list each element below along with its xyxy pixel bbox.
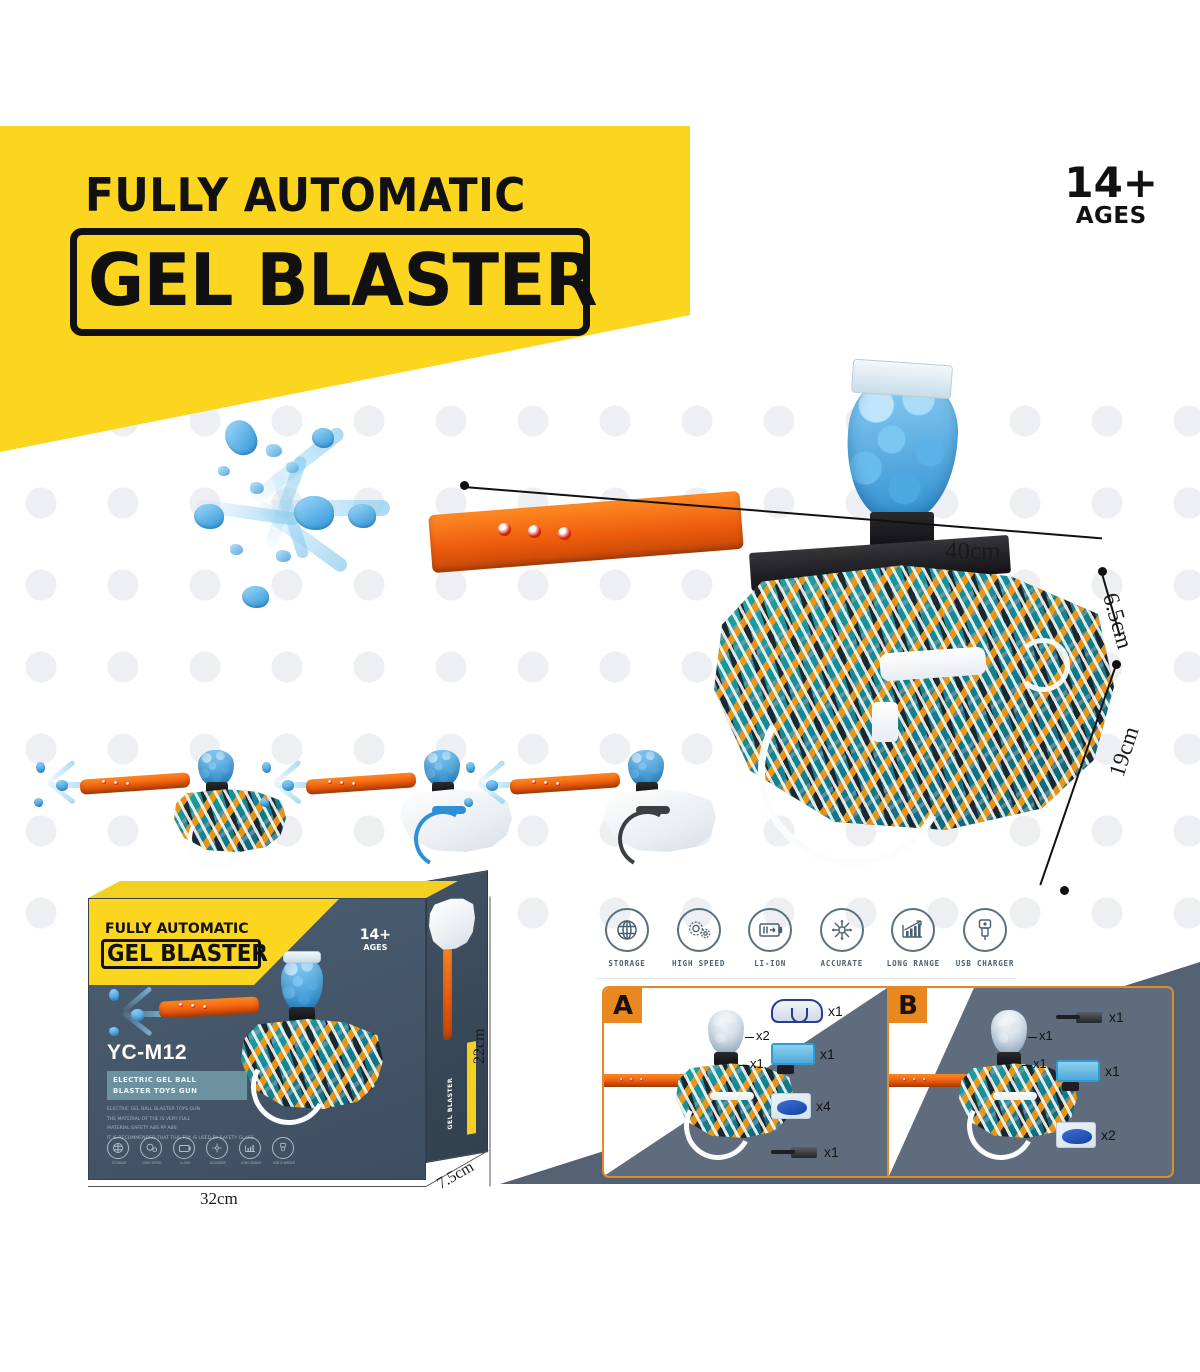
feature-icon-row: STORAGE HIGH SPEED LI-ION [596, 908, 1016, 968]
barrel-vent [126, 782, 130, 786]
battery-icon [173, 1137, 195, 1159]
splash-drop [260, 798, 269, 807]
hopper-cap [851, 359, 953, 400]
item-qty: x1 [1105, 1063, 1120, 1079]
splash-shard [286, 462, 299, 473]
splash-drop [294, 496, 334, 530]
bar-chart-arrow-icon [239, 1137, 261, 1159]
package-age-label: AGES [360, 943, 391, 952]
gel-bead-bag-icon [771, 1093, 811, 1119]
item-qty: x1 [1109, 1009, 1124, 1025]
battery-pack-icon [771, 1043, 815, 1065]
barrel-vent [352, 782, 356, 786]
variant-blaster-3 [460, 748, 700, 858]
battery-pack-icon [1056, 1060, 1100, 1082]
barrel-vent [179, 1003, 183, 1007]
item-qty: x2 [1101, 1127, 1116, 1143]
feature-divider [596, 978, 1016, 979]
splash-drop [464, 798, 473, 807]
feature-high-speed: HIGH SPEED [668, 908, 730, 968]
panel-a-callout-hopper: x2 [756, 1028, 770, 1043]
package-hopper-neck [289, 1007, 315, 1021]
barrel-vent [498, 523, 511, 536]
barrel-vent [102, 780, 106, 784]
gel-ball-hopper [708, 1010, 744, 1054]
splash-drop [56, 780, 68, 791]
feature-storage: STORAGE [596, 908, 658, 968]
package-top-panel [88, 881, 458, 898]
pkg-dim-line-width [88, 1186, 426, 1187]
panel-b-callout-hopper: x1 [1039, 1028, 1053, 1043]
splash-drop [282, 780, 294, 791]
feature-label: HIGH SPEED [668, 959, 730, 968]
barrel-vent [556, 782, 560, 786]
dim-label-length: 40cm [945, 538, 1001, 566]
usb-plug-icon [272, 1137, 294, 1159]
feature-accurate: ACCURATE [811, 908, 873, 968]
item-qty: x1 [828, 1003, 843, 1019]
safety-goggles-icon [771, 999, 823, 1023]
gel-ball-hopper [424, 750, 460, 786]
splash-drop [312, 428, 334, 448]
barrel-vent [544, 781, 548, 785]
splash-drop [36, 762, 45, 773]
package-side-panel: GEL BLASTER [426, 870, 488, 1163]
splash-drop [348, 504, 376, 528]
gears-icon [677, 908, 721, 952]
package-icon-label: ACCURATE [206, 1161, 230, 1165]
crosshair-burst-icon [820, 908, 864, 952]
panel-a-callout-magazine: x1 [750, 1056, 764, 1071]
package-subtitle: ELECTRIC GEL BALL BLASTER TOYS GUN [107, 1071, 247, 1100]
feature-label: LONG RANGE [882, 959, 944, 968]
package-kicker: FULLY AUTOMATIC [105, 921, 249, 937]
item-qty: x1 [820, 1046, 835, 1062]
barrel-vent [203, 1005, 207, 1009]
splash-shard [276, 550, 291, 562]
panel-b-callout-magazine: x1 [1033, 1056, 1047, 1071]
package-icon-storage: STORAGE [107, 1137, 131, 1165]
list-item: x1 [771, 1135, 883, 1169]
pkg-dim-label-depth: 7.5cm [434, 1158, 477, 1193]
splash-drop [109, 1027, 119, 1036]
usb-cable-icon [1056, 1010, 1104, 1025]
barrel-vent [328, 780, 332, 784]
page-title: GEL BLASTER [88, 238, 597, 322]
package-icon-high-speed: HIGH SPEED [140, 1137, 164, 1165]
barrel [510, 772, 621, 795]
charging-ring [1016, 638, 1070, 692]
package-side-blaster [429, 893, 475, 953]
barrel-vent [528, 525, 541, 538]
feature-label: ACCURATE [811, 959, 873, 968]
globe-grid-icon [107, 1137, 129, 1159]
age-label: AGES [1064, 203, 1158, 229]
package-icon-accurate: ACCURATE [206, 1137, 230, 1165]
bar-chart-arrow-icon [891, 908, 935, 952]
barrel-vent [340, 781, 344, 785]
splash-drop [486, 780, 498, 791]
barrel [80, 772, 191, 795]
list-item: x2 [1056, 1118, 1168, 1152]
gel-ball-hopper [628, 750, 664, 786]
package-icon-label: STORAGE [107, 1161, 131, 1165]
package-barrel [159, 996, 260, 1018]
hero-gel-splash [190, 400, 410, 620]
splash-drop [262, 762, 271, 773]
list-item: x1 [771, 1033, 883, 1075]
trigger [872, 702, 898, 742]
list-item: x1 [1056, 1000, 1168, 1034]
item-qty: x1 [824, 1144, 839, 1160]
feature-li-ion: LI-ION [739, 908, 801, 968]
variant-blaster-1 [30, 748, 270, 858]
pkg-dim-label-width: 32cm [200, 1189, 238, 1209]
barrel-vent [532, 780, 536, 784]
age-badge: 14+ AGES [1064, 163, 1158, 229]
panel-a-item-list: x1 x1 x4 x1 [771, 994, 883, 1174]
package-side-text: GEL BLASTER [447, 1077, 454, 1130]
contents-panel-b: B x1 x1 x1 x1 [887, 988, 1172, 1176]
battery-icon [748, 908, 792, 952]
splash-drop [242, 586, 269, 608]
package-hopper [281, 957, 323, 1011]
dim-point [1060, 886, 1069, 895]
pkg-dim-label-height: 22cm [471, 1028, 489, 1064]
feature-label: STORAGE [596, 959, 658, 968]
item-qty: x4 [816, 1098, 831, 1114]
package-side-barrel [443, 943, 452, 1041]
list-item: x4 [771, 1089, 883, 1123]
usb-cable-icon [771, 1145, 819, 1160]
barrel-vent [558, 527, 571, 540]
globe-grid-icon [605, 908, 649, 952]
usb-plug-icon [963, 908, 1007, 952]
barrel-vent [191, 1004, 195, 1008]
package-age-badge: 14+ AGES [360, 927, 391, 952]
splash-drop [220, 415, 262, 460]
splash-shard [266, 444, 282, 457]
product-infographic: FULLY AUTOMATIC GEL BLASTER 14+ AGES [0, 0, 1200, 1372]
list-item: x1 [771, 994, 883, 1028]
package-model: YC-M12 [107, 1041, 187, 1065]
splash-shard [218, 466, 230, 476]
feature-label: USB CHARGER [954, 959, 1016, 968]
splash-shard [250, 482, 264, 494]
splash-drop [194, 504, 224, 529]
splash-drop [109, 989, 119, 1001]
splash-drop [34, 798, 43, 807]
dim-label-height: 19cm [1104, 723, 1145, 780]
crosshair-burst-icon [206, 1137, 228, 1159]
gel-ball-hopper [991, 1010, 1027, 1054]
package-icon-label: HIGH SPEED [140, 1161, 164, 1165]
splash-shard [230, 544, 243, 555]
panel-badge-a: A [604, 988, 642, 1023]
gel-bead-bag-icon [1056, 1122, 1096, 1148]
feature-label: LI-ION [739, 959, 801, 968]
list-item: x1 [1056, 1050, 1168, 1092]
package-title: GEL BLASTER [107, 941, 268, 967]
splash-drop [466, 762, 475, 773]
package-icon-usb-charger: USB CHARGER [272, 1137, 296, 1165]
panel-badge-b: B [889, 988, 927, 1023]
feature-long-range: LONG RANGE [882, 908, 944, 968]
package-splash [105, 983, 167, 1045]
contents-panel-a: A x2 x1 x1 x1 [604, 988, 887, 1176]
barrel [428, 491, 744, 573]
age-number: 14+ [1064, 163, 1158, 203]
feature-usb-charger: USB CHARGER [954, 908, 1016, 968]
package-icon-long-range: LONG RANGE [239, 1137, 263, 1165]
splash-drop [131, 1009, 144, 1021]
package-icon-label: LI-ION [173, 1161, 197, 1165]
package-icon-label: USB CHARGER [272, 1161, 296, 1165]
package-icon-li-ion: LI-ION [173, 1137, 197, 1165]
barrel-vent [114, 781, 118, 785]
package-front-panel: FULLY AUTOMATIC GEL BLASTER 14+ AGES [88, 898, 426, 1180]
package-hopper-cap [283, 951, 321, 963]
pkg-dim-line-height [490, 897, 491, 1187]
panel-b-item-list: x1 x1 x2 [1056, 994, 1168, 1157]
gears-icon [140, 1137, 162, 1159]
package-feature-icons: STORAGE HIGH SPEED LI-ION [107, 1137, 296, 1165]
package-age-number: 14+ [360, 927, 391, 943]
package-contents-panel: A x2 x1 x1 x1 [602, 986, 1174, 1178]
barrel [306, 772, 417, 795]
header-kicker: FULLY AUTOMATIC [85, 168, 526, 222]
package-icon-label: LONG RANGE [239, 1161, 263, 1165]
gel-ball-hopper [198, 750, 234, 786]
